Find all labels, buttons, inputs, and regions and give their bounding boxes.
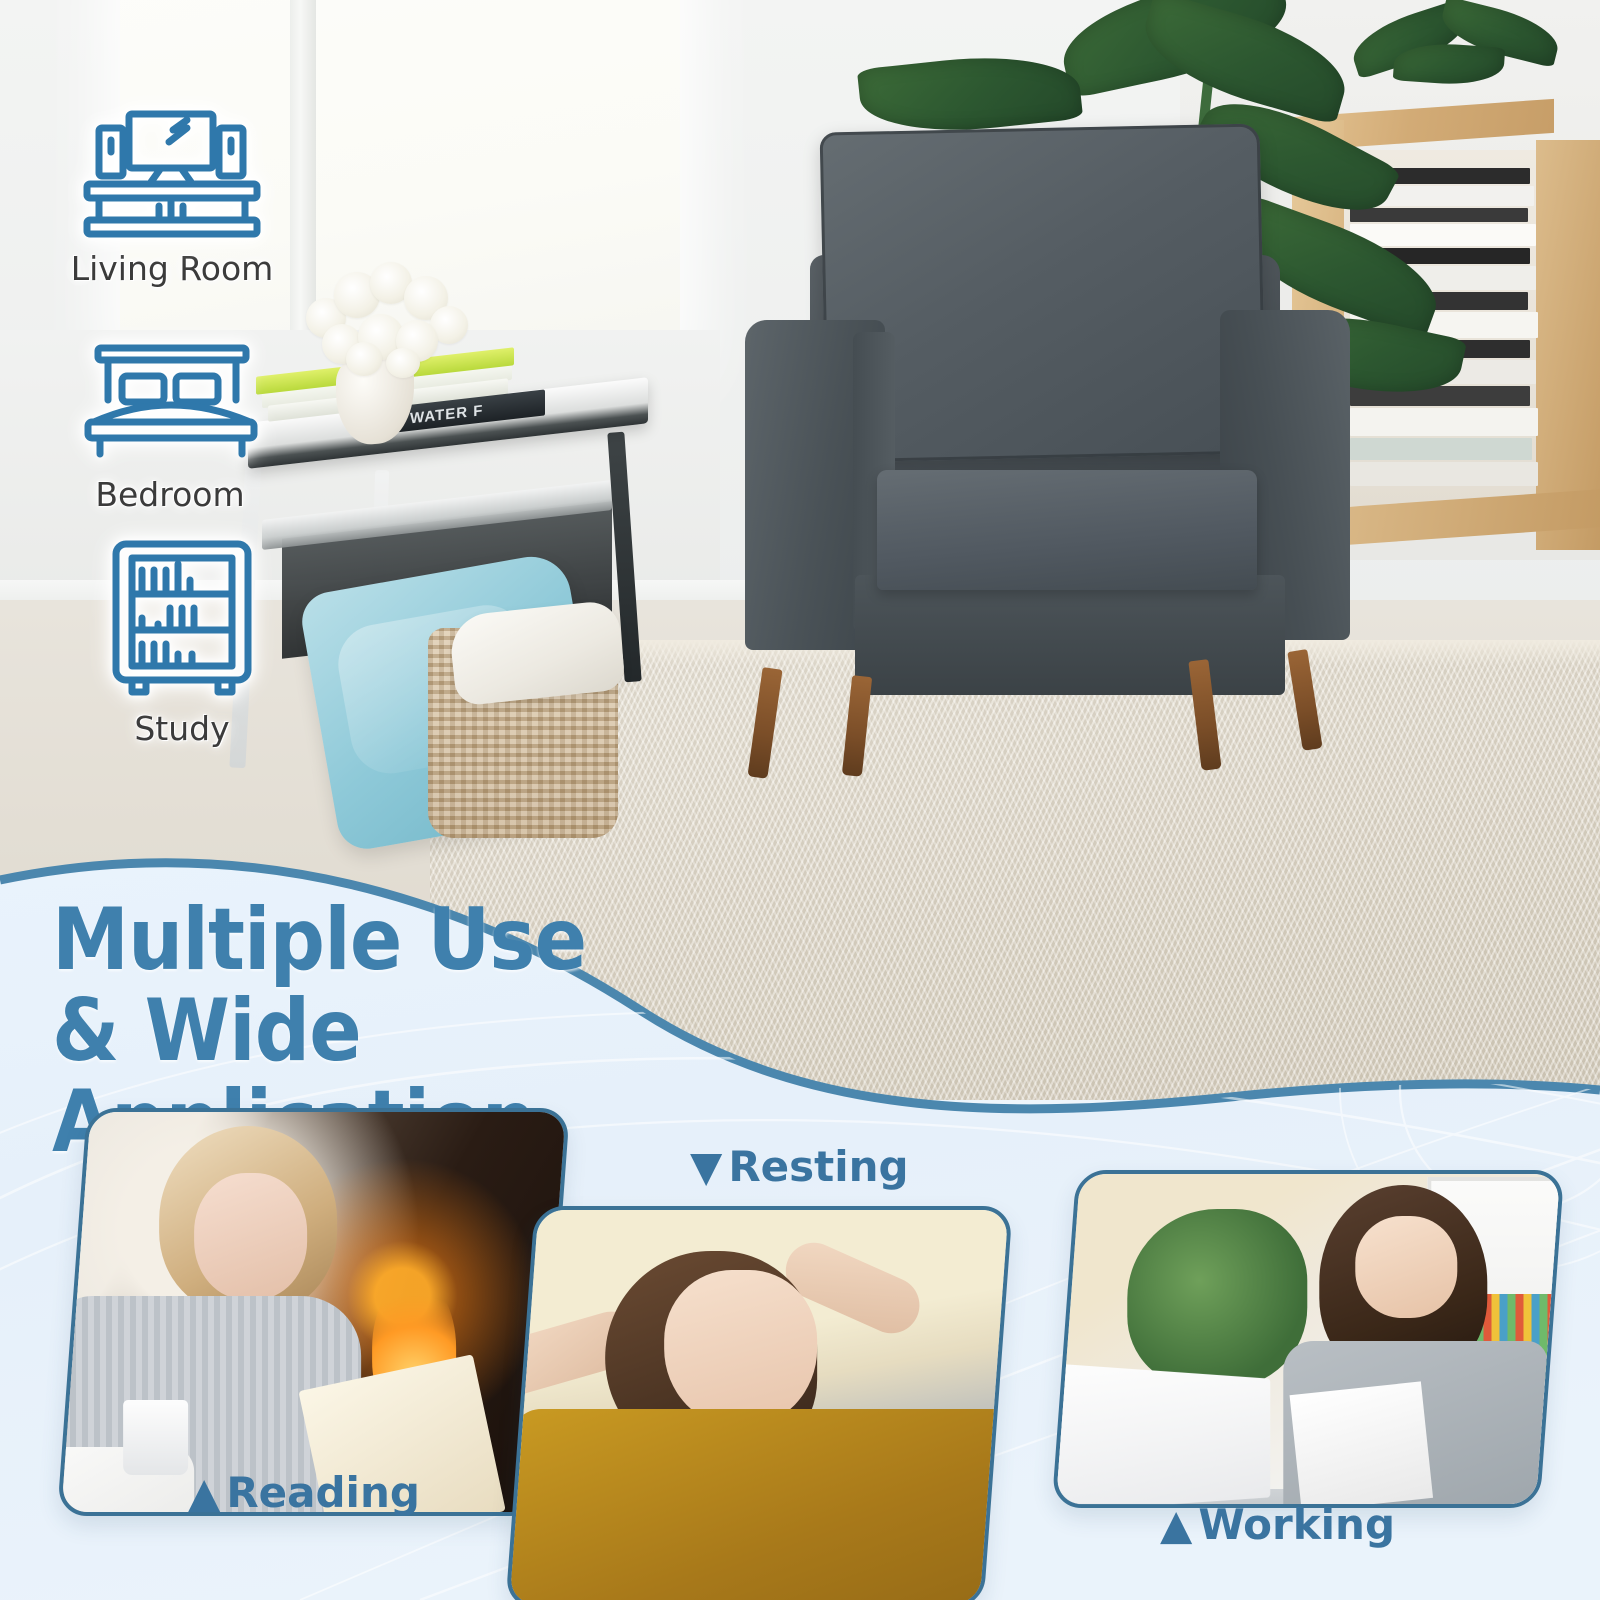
person-shirt [511,1410,1012,1600]
chair-base [855,575,1285,695]
shelf-book [1350,438,1532,460]
office-plant [1127,1209,1307,1388]
badge-study: Study [92,536,272,748]
photo-woman-reading [57,1108,570,1516]
shelf-book [1350,208,1528,222]
person-face [1355,1217,1457,1318]
shelf-book [1350,462,1538,486]
shelf-book [1350,408,1538,436]
triangle-up-icon: ▲ [1160,1500,1192,1549]
bed-icon [70,340,270,471]
coffee-mug [123,1400,188,1476]
badge-label: Study [92,709,272,748]
use-case-card-resting[interactable] [505,1206,1013,1600]
chair-leg [1287,649,1322,751]
product-infographic: WATER F [0,0,1600,1600]
triangle-up-icon: ▲ [188,1468,220,1517]
laptop [1056,1364,1270,1508]
badge-bedroom: Bedroom [70,340,270,514]
person-face [194,1173,307,1300]
shelf-book [1350,224,1536,246]
caption-label: Working [1198,1500,1395,1549]
tv-stand-icon [62,100,282,245]
badge-label: Bedroom [70,475,270,514]
chair-seat-cushion [877,470,1257,590]
triangle-down-icon: ▼ [690,1142,722,1191]
caption-label: Reading [226,1468,420,1517]
caption-reading: ▲Reading [188,1468,420,1517]
caption-resting: ▼Resting [690,1142,909,1191]
headline-line-1: Multiple Use [52,890,586,990]
paper-document [1290,1381,1433,1508]
product-armchair [735,120,1375,760]
badge-living-room: Living Room [62,100,282,288]
use-case-card-reading[interactable] [57,1108,570,1516]
person-face [664,1270,817,1428]
photo-woman-working [1052,1170,1565,1508]
throw-blanket [448,599,626,706]
badge-label: Living Room [62,249,282,288]
flower-bouquet [300,262,472,372]
photo-woman-resting [505,1206,1013,1600]
bookshelf-icon [92,536,272,705]
caption-working: ▲Working [1160,1500,1395,1549]
use-case-card-working[interactable] [1052,1170,1565,1508]
oak-shelf-side [1536,140,1600,550]
caption-label: Resting [728,1142,908,1191]
